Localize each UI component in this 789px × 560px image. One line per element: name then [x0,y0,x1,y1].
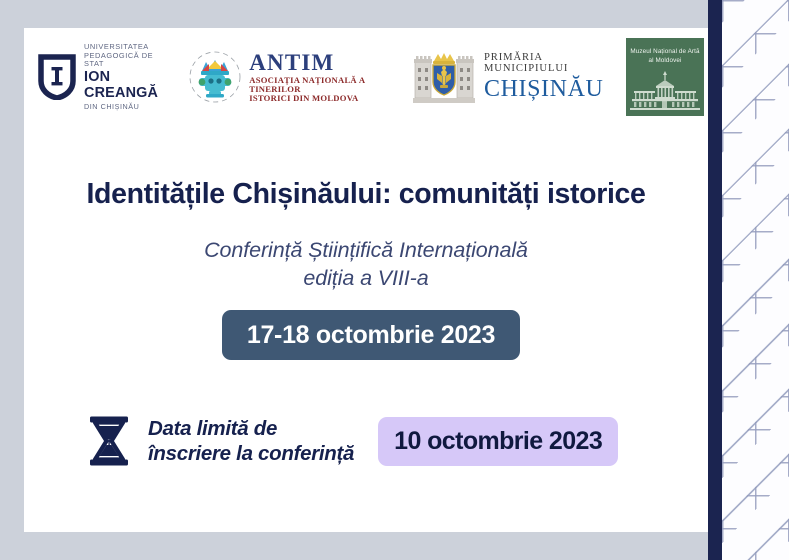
subtitle-line2: ediția a VIII-a [24,265,708,293]
primaria-line1: PRIMĂRIA MUNICIPIULUI [484,53,608,74]
antim-emblem-icon [187,49,243,105]
arrow-pattern-panel [722,0,789,560]
creanga-line4: DIN CHIȘINĂU [84,103,173,111]
page-subtitle: Conferință Științifică Internațională ed… [24,237,708,292]
logo-primaria-text: PRIMĂRIA MUNICIPIULUI CHIȘINĂU [484,53,608,100]
chisinau-coat-of-arms-icon [411,48,477,106]
museum-caption-line1: Muzeul Național de Artă [626,48,704,57]
conference-poster: UNIVERSITATEA PEDAGOGICĂ DE STAT ION CRE… [0,0,789,560]
decorative-right-strip [708,0,789,560]
museum-logo-box: Muzeul Național de Artă al Moldovei [626,38,704,116]
logo-primaria-chisinau: PRIMĂRIA MUNICIPIULUI CHIȘINĂU [403,48,616,106]
subtitle-line1: Conferință Științifică Internațională [24,237,708,265]
logo-muzeul-national-de-arta: Muzeul Național de Artă al Moldovei [616,38,708,116]
shield-monogram-icon [38,54,76,100]
conference-date-badge: 17-18 octombrie 2023 [222,310,520,360]
deadline-label: Data limită de înscriere la conferință [148,416,354,467]
deadline-label-line2: înscriere la conferință [148,441,354,466]
deadline-label-line1: Data limită de [148,416,354,441]
deadline-row: Data limită de înscriere la conferință 1… [86,406,696,476]
hourglass-icon [86,415,132,467]
poster-card: UNIVERSITATEA PEDAGOGICĂ DE STAT ION CRE… [24,28,708,532]
logo-antim: ANTIM ASOCIAȚIA NAȚIONALĂ A TINERILOR IS… [179,49,403,105]
logo-row: UNIVERSITATEA PEDAGOGICĂ DE STAT ION CRE… [24,34,708,120]
navy-vertical-bar [708,0,722,560]
primaria-line2: CHIȘINĂU [484,77,608,101]
antim-subtitle-line2: ISTORICI DIN MOLDOVA [249,94,395,103]
museum-caption-line2: al Moldovei [626,57,704,66]
creanga-line2: PEDAGOGICĂ DE STAT [84,52,173,69]
logo-ion-creanga-text: UNIVERSITATEA PEDAGOGICĂ DE STAT ION CRE… [84,43,173,110]
antim-title: ANTIM [249,51,395,75]
deadline-date-badge: 10 octombrie 2023 [378,417,618,466]
antim-subtitle-line1: ASOCIAȚIA NAȚIONALĂ A TINERILOR [249,76,395,94]
page-title: Identitățile Chișinăului: comunități ist… [24,178,708,211]
logo-ion-creanga: UNIVERSITATEA PEDAGOGICĂ DE STAT ION CRE… [24,43,179,110]
museum-building-icon [626,68,704,114]
museum-caption: Muzeul Național de Artă al Moldovei [626,48,704,65]
logo-antim-text: ANTIM ASOCIAȚIA NAȚIONALĂ A TINERILOR IS… [249,51,395,103]
creanga-line3: ION CREANGĂ [84,69,173,101]
